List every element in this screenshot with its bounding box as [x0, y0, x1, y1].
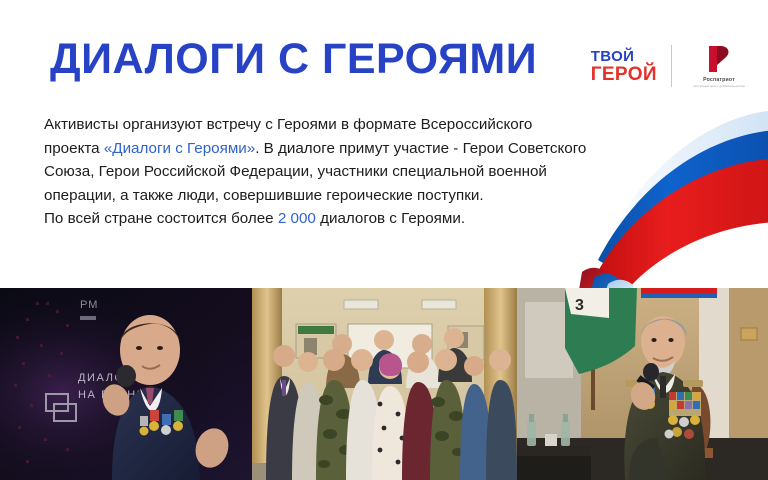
logo-tvoy-geroy: ТВОЙ ГЕРОЙ	[591, 49, 671, 84]
logo-row: ТВОЙ ГЕРОЙ Роспатриот ресурсный центр до…	[591, 40, 752, 92]
photo-decorated-officer: 3	[517, 288, 768, 480]
presentation-slide: ДИАЛОГИ С ГЕРОЯМИ ТВОЙ ГЕРОЙ Роспатриот …	[0, 0, 768, 480]
photo-speaker-with-medals: ДИАЛОГ НА РАВНЫХ РМ	[0, 288, 252, 480]
logo-tvoy-geroy-line2: ГЕРОЙ	[591, 65, 657, 84]
photo-strip: ДИАЛОГ НА РАВНЫХ РМ	[0, 288, 768, 480]
logo-tvoy-geroy-line1: ТВОЙ	[591, 49, 635, 64]
project-name-highlight: «Диалоги с Героями»	[104, 140, 255, 157]
svg-text:РМ: РМ	[80, 299, 98, 311]
logo-divider	[671, 45, 672, 87]
rospatriot-subtitle: ресурсный центр добровольчества	[693, 84, 745, 88]
rospatriot-swoosh-icon	[706, 44, 732, 74]
body-paragraph-1: Активисты организуют встречу с Героями в…	[44, 113, 588, 207]
dialog-count-highlight: 2 000	[278, 210, 316, 227]
photo-veterans-group	[252, 288, 517, 480]
svg-text:3: 3	[575, 297, 584, 314]
paragraph-2-text-after: диалогов с Героями.	[316, 210, 465, 227]
page-title: ДИАЛОГИ С ГЕРОЯМИ	[50, 34, 537, 84]
body-copy: Активисты организуют встречу с Героями в…	[44, 113, 588, 231]
body-paragraph-2: По всей стране состоится более 2 000 диа…	[44, 207, 588, 231]
paragraph-2-text-before: По всей стране состоится более	[44, 210, 278, 227]
rospatriot-name: Роспатриот	[703, 77, 735, 83]
logo-rospatriot: Роспатриот ресурсный центр добровольчест…	[686, 44, 752, 89]
